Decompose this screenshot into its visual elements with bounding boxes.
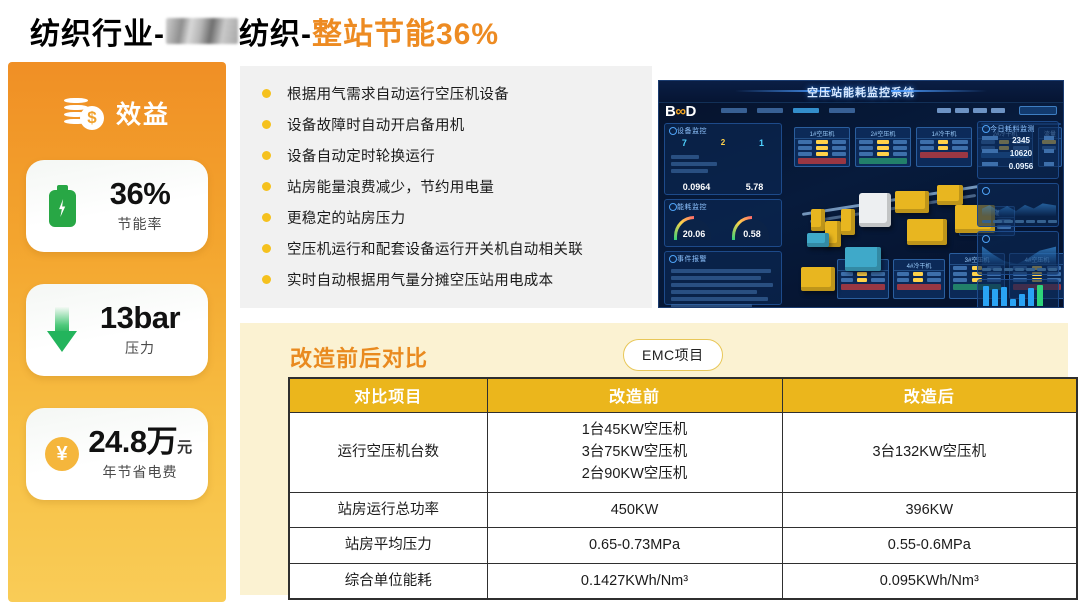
benefit-card-value: 13bar [84, 302, 196, 335]
list-item-label: 空压机运行和配套设备运行开关机自动相关联 [287, 238, 583, 259]
list-item-label: 设备自动定时轮换运行 [287, 145, 435, 166]
equipment-3d [859, 193, 891, 227]
gauge: 0.58 [732, 216, 772, 240]
event-alarm-title: 事件报警 [665, 252, 781, 264]
equipment-3d [807, 233, 829, 247]
list-item: 实时自动根据用气量分摊空压站用电成本 [262, 264, 652, 295]
table-cell-before: 0.65-0.73MPa [487, 528, 782, 563]
feature-list: 根据用气需求自动运行空压机设备 设备故障时自动开启备用机 设备自动定时轮换运行 … [240, 66, 652, 308]
bullet-dot-icon [262, 89, 271, 98]
equipment-3d [801, 267, 835, 291]
table-cell-line: 3台75KW空压机 [492, 441, 778, 463]
dashboard-screenshot: 空压站能耗监控系统 B∞D 设备监控 7 2 1 0.0964 5.78 [658, 80, 1064, 308]
benefit-heading: $ 效益 [8, 88, 226, 138]
page-title-part1: 纺织行业- [30, 9, 165, 53]
readout-value: 0.0964 [683, 182, 711, 192]
list-item-label: 实时自动根据用气量分摊空压站用电成本 [287, 269, 553, 290]
benefit-card-value: 36% [84, 178, 196, 211]
list-item: 空压机运行和配套设备运行开关机自动相关联 [262, 233, 652, 264]
list-item-label: 更稳定的站房压力 [287, 207, 405, 228]
table-cell-before: 1台45KW空压机 3台75KW空压机 2台90KW空压机 [487, 412, 782, 492]
event-alarm-panel: 事件报警 [664, 251, 782, 305]
table-row: 运行空压机台数 1台45KW空压机 3台75KW空压机 2台90KW空压机 3台… [289, 412, 1077, 492]
dashboard-title: 空压站能耗监控系统 [807, 84, 915, 100]
status-card[interactable]: 4#冷干机 [893, 259, 945, 299]
table-row: 站房运行总功率 450KW 396KW [289, 492, 1077, 527]
bullet-dot-icon [262, 120, 271, 129]
comparison-section: 改造前后对比 EMC项目 对比项目 改造前 改造后 运行空压机台数 1台45KW… [240, 323, 1068, 595]
slide-root: 纺织行业-纺织-整站节能36% $ 效益 36% 节能率 13bar [0, 0, 1080, 611]
arrow-down-icon [40, 307, 84, 353]
list-item: 设备自动定时轮换运行 [262, 140, 652, 171]
redacted-company-name [166, 18, 238, 44]
list-item: 设备故障时自动开启备用机 [262, 109, 652, 140]
status-card[interactable]: 2#空压机 [855, 127, 911, 167]
comparison-header: 改造前后对比 EMC项目 [260, 337, 1048, 377]
table-cell-before: 450KW [487, 492, 782, 527]
comparison-table: 对比项目 改造前 改造后 运行空压机台数 1台45KW空压机 3台75KW空压机… [288, 377, 1078, 600]
page-title-accent: 整站节能36% [312, 9, 499, 53]
nav-item[interactable] [757, 108, 783, 113]
benefit-panel: $ 效益 36% 节能率 13bar 压力 ¥ [8, 62, 226, 602]
boxd-logo: B∞D [665, 103, 696, 120]
bullet-dot-icon [262, 213, 271, 222]
list-item-label: 站房能量浪费减少，节约用电量 [287, 176, 494, 197]
status-card-title: 4#冷干机 [894, 260, 944, 271]
device-status-panel: 设备监控 7 2 1 0.0964 5.78 [664, 123, 782, 195]
nav-item-active[interactable] [793, 108, 819, 113]
comparison-title: 改造前后对比 [290, 341, 428, 373]
list-item: 根据用气需求自动运行空压机设备 [262, 78, 652, 109]
equipment-3d [845, 247, 881, 271]
bullet-dot-icon [262, 182, 271, 191]
dashboard-fullscreen-button[interactable] [1019, 106, 1057, 115]
table-cell-line: 1台45KW空压机 [492, 419, 778, 441]
status-card-title: 2#空压机 [856, 128, 910, 139]
dashboard-clock [937, 108, 1005, 113]
table-header-cell: 对比项目 [289, 378, 487, 412]
list-item: 站房能量浪费减少，节约用电量 [262, 171, 652, 202]
yen-coin-icon: ¥ [40, 437, 84, 471]
table-cell-before: 0.1427KWh/Nm³ [487, 563, 782, 599]
status-card[interactable]: 1#冷干机 [916, 127, 972, 167]
energy-status-panel: 能耗监控 20.06 0.58 [664, 199, 782, 247]
nav-item[interactable] [721, 108, 747, 113]
battery-icon [40, 185, 84, 227]
readout-value: 5.78 [746, 182, 764, 192]
table-cell-label: 运行空压机台数 [289, 412, 487, 492]
gauge-value: 20.06 [677, 229, 711, 239]
table-row: 站房平均压力 0.65-0.73MPa 0.55-0.6MPa [289, 528, 1077, 563]
benefit-card-value-wrap: 24.8万元 [84, 426, 196, 459]
equipment-3d [907, 219, 947, 245]
gauge: 20.06 [674, 216, 714, 240]
flow-trend-chart [977, 183, 1059, 227]
equipment-3d [841, 209, 855, 235]
device-count: 7 [682, 138, 687, 148]
benefit-card-label: 节能率 [84, 214, 196, 234]
status-card[interactable]: 1#空压机 [794, 127, 850, 167]
emc-project-badge[interactable]: EMC项目 [623, 339, 723, 371]
benefit-heading-label: 效益 [116, 95, 170, 131]
equipment-3d [811, 209, 825, 231]
list-item: 更稳定的站房压力 [262, 202, 652, 233]
table-header-cell: 改造后 [782, 378, 1077, 412]
benefit-card-unit: 元 [177, 439, 192, 456]
pressure-trend-chart [977, 231, 1059, 275]
bullet-dot-icon [262, 275, 271, 284]
list-item-label: 设备故障时自动开启备用机 [287, 114, 465, 135]
status-card-title: 1#冷干机 [917, 128, 971, 139]
nav-item[interactable] [829, 108, 855, 113]
equipment-3d [937, 185, 963, 205]
table-cell-label: 站房运行总功率 [289, 492, 487, 527]
benefit-card-value: 24.8万 [88, 424, 177, 459]
status-card-title: 1#空压机 [795, 128, 849, 139]
gauge-value: 0.58 [735, 229, 769, 239]
dashboard-header: 空压站能耗监控系统 [659, 81, 1063, 103]
benefit-card-label: 年节省电费 [84, 462, 196, 482]
benefit-card-label: 压力 [84, 338, 196, 358]
today-energy-panel: 今日耗料监测 2345 10620 0.0956 [977, 121, 1059, 179]
table-cell-label: 站房平均压力 [289, 528, 487, 563]
table-cell-after: 3台132KW空压机 [782, 412, 1077, 492]
table-header-row: 对比项目 改造前 改造后 [289, 378, 1077, 412]
table-cell-after: 0.55-0.6MPa [782, 528, 1077, 563]
device-status-title: 设备监控 [665, 124, 781, 136]
device-count: 2 [721, 138, 725, 148]
table-row: 综合单位能耗 0.1427KWh/Nm³ 0.095KWh/Nm³ [289, 563, 1077, 599]
today-energy-title: 今日耗料监测 [978, 122, 1058, 134]
page-title: 纺织行业-纺织-整站节能36% [30, 8, 499, 54]
bullet-dot-icon [262, 151, 271, 160]
energy-status-title: 能耗监控 [665, 200, 781, 212]
list-item-label: 根据用气需求自动运行空压机设备 [287, 83, 509, 104]
table-cell-after: 0.095KWh/Nm³ [782, 563, 1077, 599]
bullet-dot-icon [262, 244, 271, 253]
table-cell-after: 396KW [782, 492, 1077, 527]
device-count: 1 [759, 138, 764, 148]
benefit-card-pressure: 13bar 压力 [26, 284, 208, 376]
benefit-card-cost-saving: ¥ 24.8万元 年节省电费 [26, 408, 208, 500]
equipment-3d [895, 191, 929, 213]
output-bar-chart [977, 279, 1059, 308]
benefit-card-saving-rate: 36% 节能率 [26, 160, 208, 252]
table-header-cell: 改造前 [487, 378, 782, 412]
table-cell-line: 2台90KW空压机 [492, 463, 778, 485]
coins-icon: $ [64, 96, 104, 130]
page-title-part2: 纺织- [239, 9, 312, 53]
table-cell-label: 综合单位能耗 [289, 563, 487, 599]
dashboard-nav [721, 108, 855, 113]
